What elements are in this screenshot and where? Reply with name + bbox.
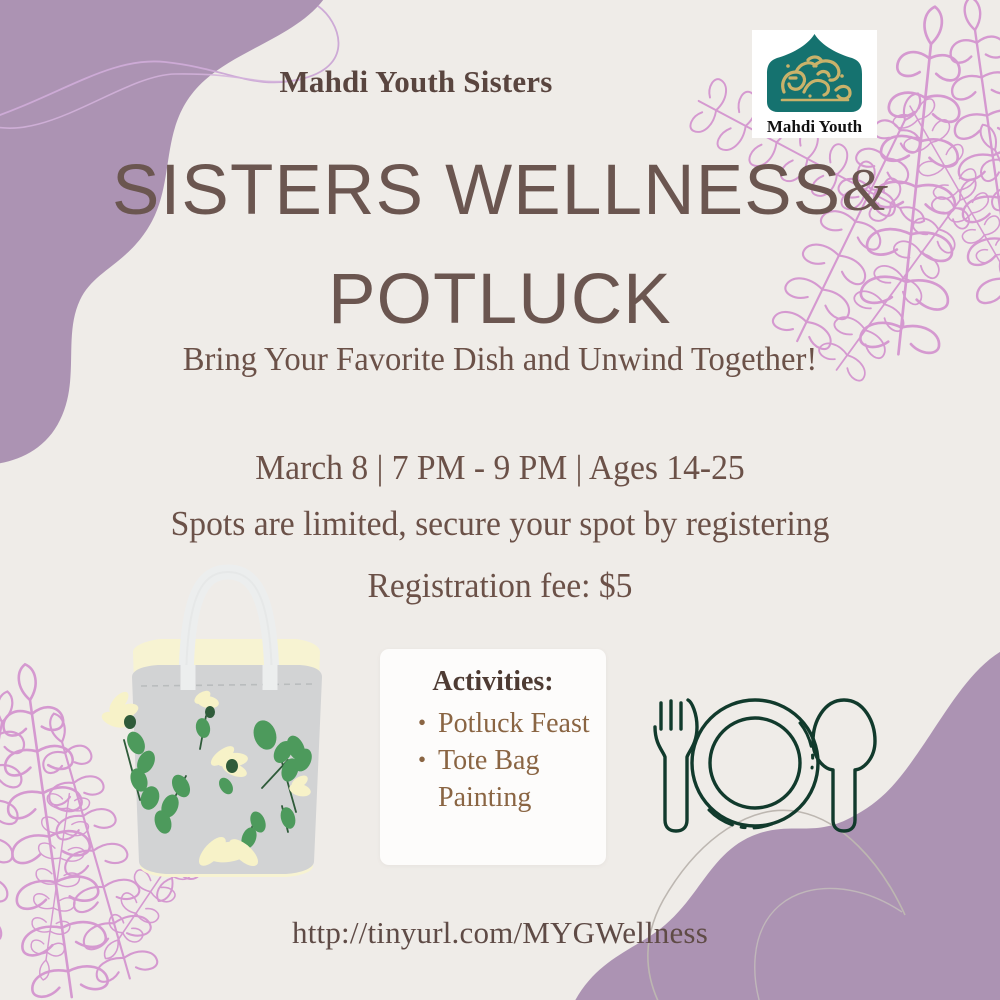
event-details: March 8 | 7 PM - 9 PM | Ages 14-25 Spots… [0,443,1000,617]
list-item: Tote Bag Painting [416,742,591,816]
mosque-dome-calligraphy-icon: Mahdi Youth [752,30,877,138]
logo-label: Mahdi Youth [767,117,863,136]
activities-heading: Activities: [380,666,606,698]
page-title: SISTERS WELLNESS& POTLUCK [0,138,1000,353]
activities-list: Potluck Feast Tote Bag Painting [416,705,591,816]
mahdi-youth-logo: Mahdi Youth [752,30,877,138]
title-line-2: POTLUCK [0,247,1000,353]
title-line-1: SISTERS WELLNESS [112,151,841,230]
title-line-1-wrapper: SISTERS WELLNESS& [0,138,1000,247]
poster-canvas: Mahdi Youth Sisters [0,0,1000,1000]
registration-url[interactable]: http://tinyurl.com/MYGWellness [0,915,1000,951]
tagline: Bring Your Favorite Dish and Unwind Toge… [20,341,980,379]
detail-registration-fee: Registration fee: $5 [20,555,980,617]
list-item: Potluck Feast [416,705,591,742]
title-ampersand: & [841,157,888,223]
detail-date-time-ages: March 8 | 7 PM - 9 PM | Ages 14-25 [20,443,980,493]
poster-content: Mahdi Youth Sisters [0,0,1000,1000]
detail-spots-limited: Spots are limited, secure your spot by r… [20,493,980,555]
organization-name-text: Mahdi Youth Sisters [279,64,552,99]
activities-card: Activities: Potluck Feast Tote Bag Paint… [380,649,606,865]
